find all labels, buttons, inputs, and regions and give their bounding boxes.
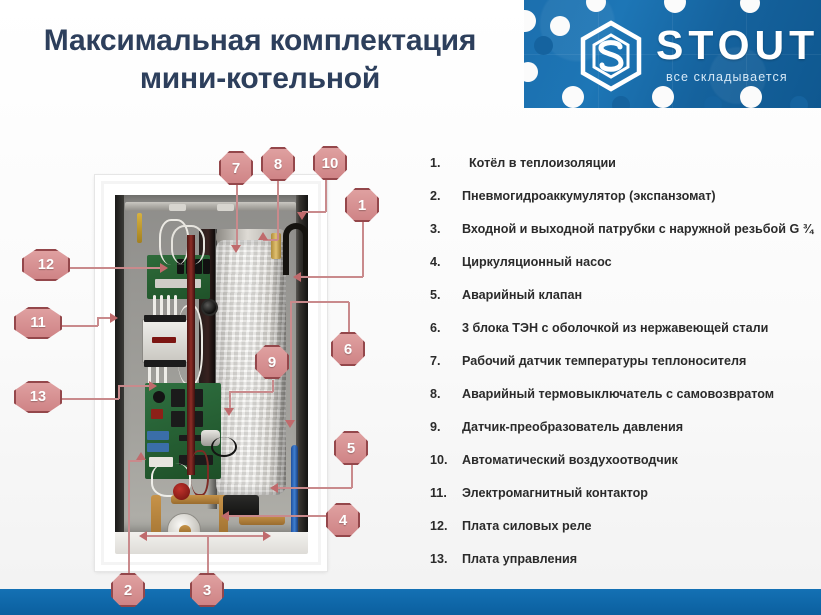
leader-arrow-3 <box>263 531 271 541</box>
legend-item-label: Циркуляционный насос <box>462 253 612 271</box>
callout-marker-5[interactable]: 5 <box>334 431 368 465</box>
callout-marker-8[interactable]: 8 <box>261 147 295 181</box>
leader-line-1 <box>300 276 363 278</box>
list-item: 4. Циркуляционный насос <box>430 251 821 284</box>
safety-valve <box>173 483 190 500</box>
heating-element-cables <box>191 450 209 496</box>
list-item: 9. Датчик-преобразователь давления <box>430 416 821 449</box>
callout-marker-6[interactable]: 6 <box>331 332 365 366</box>
legend-item-label: Плата силовых реле <box>462 517 592 535</box>
leader-line-6 <box>348 302 350 332</box>
page-title: Максимальная комплектация мини-котельной <box>0 22 520 98</box>
leader-line-10 <box>325 180 327 212</box>
callout-label: 11 <box>30 315 45 331</box>
legend-item-label: Пневмогидроаккумулятор (экспанзомат) <box>462 187 716 205</box>
callout-marker-10[interactable]: 10 <box>313 146 347 180</box>
puzzle-knob-icon <box>550 16 570 36</box>
leader-arrow-7 <box>231 245 241 253</box>
brand-wordmark: STOUT <box>656 22 819 68</box>
callout-label: 8 <box>274 156 282 173</box>
legend-item-number: 1. <box>430 154 456 172</box>
copper-pipe <box>151 495 161 532</box>
leader-arrow-12 <box>160 263 168 273</box>
leader-arrow-3 <box>139 531 147 541</box>
leader-line-5 <box>351 465 353 488</box>
legend-item-number: 10. <box>430 451 456 469</box>
legend-item-label: Аварийный клапан <box>462 286 582 304</box>
leader-line-2 <box>128 460 130 580</box>
puzzle-knob-icon <box>534 36 553 55</box>
list-item: 10. Автоматический воздухоотводчик <box>430 449 821 482</box>
leader-arrow-6 <box>285 420 295 428</box>
legend-item-label: Автоматический воздухоотводчик <box>462 451 678 469</box>
legend-item-label: Входной и выходной патрубки с наружной р… <box>462 220 813 238</box>
list-item: 8. Аварийный термовыключатель с самовозв… <box>430 383 821 416</box>
callout-marker-9[interactable]: 9 <box>255 345 289 379</box>
puzzle-knob-icon <box>612 96 630 108</box>
leader-arrow-1 <box>293 272 301 282</box>
page-title-line2: мини-котельной <box>0 60 520 98</box>
leader-line-12 <box>68 267 163 269</box>
legend-item-number: 5. <box>430 286 456 304</box>
leader-arrow-11 <box>110 313 118 323</box>
list-item: 13. Плата управления <box>430 548 821 581</box>
leader-line-8 <box>277 180 279 240</box>
callout-marker-4[interactable]: 4 <box>326 503 360 537</box>
leader-arrow-5 <box>270 483 278 493</box>
stout-hexagon-s-logo-icon <box>577 20 645 92</box>
list-item: 1. Котёл в теплоизоляции <box>430 152 821 185</box>
pressure-sensor-cable <box>211 437 237 457</box>
ground-strap <box>137 213 142 243</box>
legend-item-label: Электромагнитный контактор <box>462 484 648 502</box>
leader-line-4 <box>228 515 343 517</box>
legend-item-label: Датчик-преобразователь давления <box>462 418 683 436</box>
puzzle-knob-icon <box>740 86 762 108</box>
leader-line-9 <box>229 391 273 393</box>
leader-line-7 <box>236 182 238 247</box>
callout-label: 7 <box>232 160 240 177</box>
leader-line-3 <box>145 535 265 537</box>
leader-arrow-10 <box>297 212 307 220</box>
callout-label: 5 <box>347 440 355 457</box>
callout-label: 3 <box>203 582 211 599</box>
leader-arrow-4 <box>221 511 229 521</box>
callout-label: 13 <box>30 389 46 405</box>
legend-item-number: 11. <box>430 484 456 502</box>
legend-item-number: 8. <box>430 385 456 403</box>
callout-label: 2 <box>124 582 132 599</box>
leader-arrow-9 <box>224 408 234 416</box>
legend-item-label: Котёл в теплоизоляции <box>469 154 616 172</box>
leader-line-13 <box>118 385 152 387</box>
leader-line-13 <box>58 398 119 400</box>
list-item: 2. Пневмогидроаккумулятор (экспанзомат) <box>430 185 821 218</box>
heating-element-cables <box>187 235 195 475</box>
leader-arrow-2 <box>136 452 146 460</box>
legend-item-number: 3. <box>430 220 456 238</box>
leader-line-6 <box>290 301 349 303</box>
boiler-photo <box>95 175 327 571</box>
cabinet-left-shadow <box>115 195 124 532</box>
leader-line-2 <box>128 460 142 462</box>
brand-tagline: все складывается <box>666 70 788 84</box>
legend-item-number: 9. <box>430 418 456 436</box>
callout-label: 9 <box>268 354 276 371</box>
legend-item-number: 4. <box>430 253 456 271</box>
callout-label: 1 <box>358 197 366 214</box>
callout-marker-13[interactable]: 13 <box>14 381 62 413</box>
legend-item-label: 3 блока ТЭН с оболочкой из нержавеющей с… <box>462 319 768 337</box>
legend-item-number: 13. <box>430 550 456 568</box>
slide-root: STOUT все складывается Максимальная комп… <box>0 0 821 615</box>
cabinet-frame <box>101 181 321 565</box>
legend-item-number: 12. <box>430 517 456 535</box>
legend-item-number: 7. <box>430 352 456 370</box>
legend-item-number: 6. <box>430 319 456 337</box>
legend-item-label: Рабочий датчик температуры теплоносителя <box>462 352 746 370</box>
callout-marker-12[interactable]: 12 <box>22 249 70 281</box>
callout-marker-11[interactable]: 11 <box>14 307 62 339</box>
leader-line-5 <box>277 487 352 489</box>
puzzle-knob-icon <box>652 86 674 108</box>
callout-label: 10 <box>322 155 339 172</box>
automatic-air-vent <box>271 233 281 259</box>
leader-line-13 <box>118 385 120 399</box>
cabinet-top-rail <box>125 202 296 211</box>
air-vent-hose <box>283 223 308 275</box>
legend-item-label: Плата управления <box>462 550 577 568</box>
callout-label: 12 <box>38 257 54 273</box>
circulation-pump <box>167 513 201 532</box>
list-item: 11. Электромагнитный контактор <box>430 482 821 515</box>
list-item: 12. Плата силовых реле <box>430 515 821 548</box>
legend-item-label: Аварийный термовыключатель с самовозврат… <box>462 385 774 403</box>
leader-line-1 <box>362 222 364 277</box>
list-item: 3. Входной и выходной патрубки с наружно… <box>430 218 821 251</box>
callout-marker-1[interactable]: 1 <box>345 188 379 222</box>
list-item: 5. Аварийный клапан <box>430 284 821 317</box>
temperature-sensor <box>201 299 218 316</box>
list-item: 6. 3 блока ТЭН с оболочкой из нержавеюще… <box>430 317 821 350</box>
puzzle-knob-icon <box>704 96 722 108</box>
legend-item-number: 2. <box>430 187 456 205</box>
list-item: 7. Рабочий датчик температуры теплоносит… <box>430 350 821 383</box>
leader-arrow-8 <box>258 232 268 240</box>
callout-label: 6 <box>344 341 352 358</box>
electromagnetic-contactor <box>142 319 188 363</box>
callout-label: 4 <box>339 512 347 529</box>
brand-header-panel: STOUT все складывается <box>524 0 821 108</box>
page-title-line1: Максимальная комплектация <box>44 24 476 57</box>
leader-line-11 <box>58 325 98 327</box>
callout-marker-7[interactable]: 7 <box>219 151 253 185</box>
leader-line-6 <box>290 301 292 423</box>
legend-list: 1. Котёл в теплоизоляции 2. Пневмогидроа… <box>430 152 821 581</box>
puzzle-knob-icon <box>790 96 808 108</box>
leader-arrow-13 <box>149 381 157 391</box>
